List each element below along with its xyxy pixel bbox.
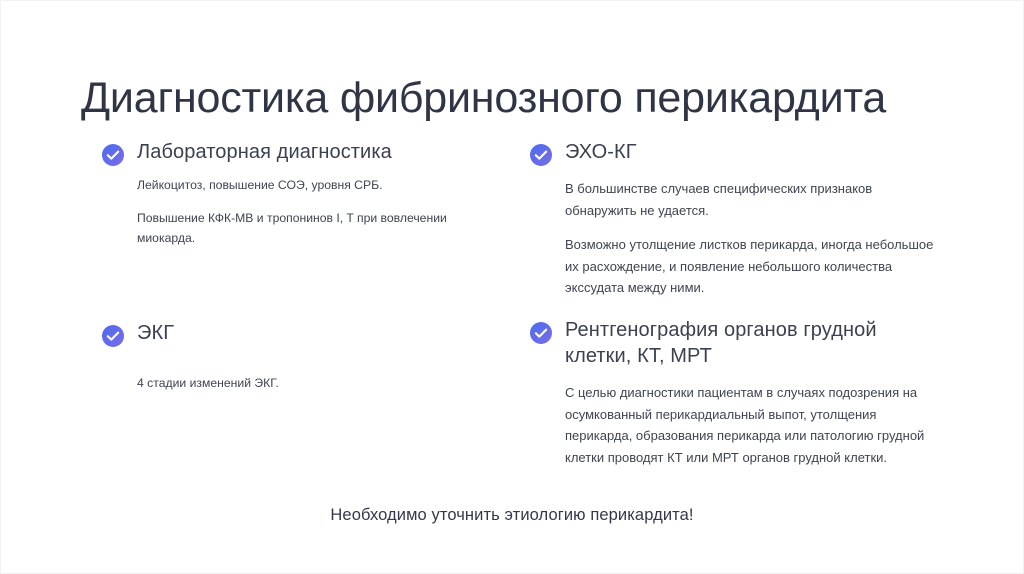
section-header: ЭХО-КГ [529,140,941,167]
paragraph: Повышение КФК-МВ и тропонинов I, T при в… [137,209,501,249]
section-body: В большинстве случаев специфических приз… [529,178,941,299]
section-radiography: Рентгенография органов грудной клетки, К… [529,318,941,469]
section-title: Рентгенография органов грудной клетки, К… [565,318,941,369]
section-header: ЭКГ [101,321,501,348]
section-header: Лабораторная диагностика [101,140,501,167]
page-title: Диагностика фибринозного перикардита [81,74,886,123]
paragraph: Возможно утолщение листков перикарда, ин… [565,234,941,299]
paragraph: Лейкоцитоз, повышение СОЭ, уровня СРБ. [137,176,501,196]
paragraph: 4 стадии изменений ЭКГ. [137,374,501,394]
paragraph: С целью диагностики пациентам в случаях … [565,382,941,468]
check-circle-icon [101,143,125,167]
section-echo-kg: ЭХО-КГ В большинстве случаев специфическ… [529,140,941,299]
section-title: Лабораторная диагностика [137,140,392,166]
section-laboratory-diagnostics: Лабораторная диагностика Лейкоцитоз, пов… [101,140,501,248]
check-circle-icon [101,324,125,348]
section-title: ЭХО-КГ [565,140,637,166]
section-body: 4 стадии изменений ЭКГ. [101,374,501,394]
section-title: ЭКГ [137,321,174,347]
check-circle-icon [529,143,553,167]
section-ecg: ЭКГ 4 стадии изменений ЭКГ. [101,321,501,394]
footer-note: Необходимо уточнить этиологию перикардит… [1,506,1023,525]
paragraph: В большинстве случаев специфических приз… [565,178,941,221]
slide-canvas: Диагностика фибринозного перикардита Лаб… [0,0,1024,574]
section-body: Лейкоцитоз, повышение СОЭ, уровня СРБ. П… [101,176,501,248]
section-body: С целью диагностики пациентам в случаях … [529,382,941,468]
section-header: Рентгенография органов грудной клетки, К… [529,318,941,369]
check-circle-icon [529,321,553,345]
